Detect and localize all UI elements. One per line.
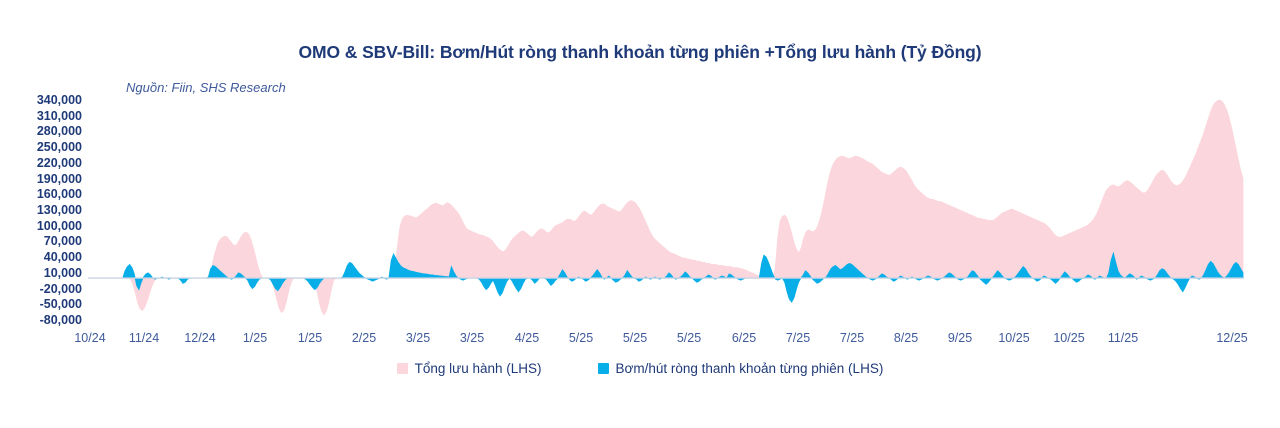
legend-item-outstanding[interactable]: Tổng lưu hành (LHS) — [397, 361, 542, 376]
x-axis-tick-label: 9/25 — [948, 331, 972, 345]
x-axis-tick-label: 10/25 — [998, 331, 1029, 345]
series-area-outstanding — [88, 100, 1243, 315]
x-axis-tick-label: 11/24 — [129, 331, 159, 345]
x-axis-tick-label: 5/25 — [677, 331, 701, 345]
y-axis-tick-label: 250,000 — [37, 141, 82, 154]
x-axis-tick-label: 4/25 — [515, 331, 539, 345]
x-axis-tick-label: 12/25 — [1216, 331, 1247, 345]
y-axis-tick-label: 280,000 — [37, 125, 82, 138]
y-axis-tick-label: 130,000 — [37, 204, 82, 217]
y-axis-tick-label: 190,000 — [37, 172, 82, 185]
y-axis-tick-label: 40,000 — [44, 251, 82, 264]
y-axis-tick-label: 310,000 — [37, 109, 82, 122]
legend-label-outstanding: Tổng lưu hành (LHS) — [415, 361, 542, 376]
x-axis-tick-label: 1/25 — [243, 331, 267, 345]
x-axis-tick-label: 8/25 — [894, 331, 918, 345]
plot-area — [88, 100, 1243, 320]
x-axis-tick-label: 7/25 — [786, 331, 810, 345]
y-axis-tick-label: -20,000 — [40, 282, 82, 295]
x-axis-tick-label: 11/25 — [1108, 331, 1138, 345]
legend-swatch-net — [598, 363, 609, 374]
x-axis-tick-label: 5/25 — [623, 331, 647, 345]
y-axis-tick-label: 10,000 — [44, 267, 82, 280]
y-axis-tick-label: 220,000 — [37, 157, 82, 170]
legend-item-net[interactable]: Bơm/hút ròng thanh khoản từng phiên (LHS… — [598, 361, 884, 376]
chart-source-note: Nguồn: Fiin, SHS Research — [126, 80, 286, 95]
x-axis-tick-label: 5/25 — [569, 331, 593, 345]
x-axis-tick-label: 10/25 — [1053, 331, 1084, 345]
chart-title: OMO & SBV-Bill: Bơm/Hút ròng thanh khoản… — [0, 42, 1280, 63]
y-axis-tick-label: 70,000 — [44, 235, 82, 248]
x-axis-tick-label: 2/25 — [352, 331, 376, 345]
legend-label-net: Bơm/hút ròng thanh khoản từng phiên (LHS… — [616, 361, 884, 376]
x-axis-tick-label: 3/25 — [406, 331, 430, 345]
x-axis-tick-label: 7/25 — [840, 331, 864, 345]
x-axis-tick-label: 10/24 — [74, 331, 105, 345]
y-axis-tick-label: 100,000 — [37, 219, 82, 232]
y-axis-tick-label: 340,000 — [37, 94, 82, 107]
x-axis-tick-label: 3/25 — [460, 331, 484, 345]
chart-plot-svg — [88, 100, 1243, 320]
chart-root: OMO & SBV-Bill: Bơm/Hút ròng thanh khoản… — [0, 0, 1280, 428]
x-axis-tick-label: 1/25 — [298, 331, 322, 345]
x-axis-tick-label: 6/25 — [732, 331, 756, 345]
legend-swatch-outstanding — [397, 363, 408, 374]
chart-legend: Tổng lưu hành (LHS) Bơm/hút ròng thanh k… — [0, 361, 1280, 376]
y-axis-tick-label: -50,000 — [40, 298, 82, 311]
x-axis-tick-label: 12/24 — [184, 331, 215, 345]
y-axis-tick-label: -80,000 — [40, 314, 82, 327]
y-axis-tick-label: 160,000 — [37, 188, 82, 201]
